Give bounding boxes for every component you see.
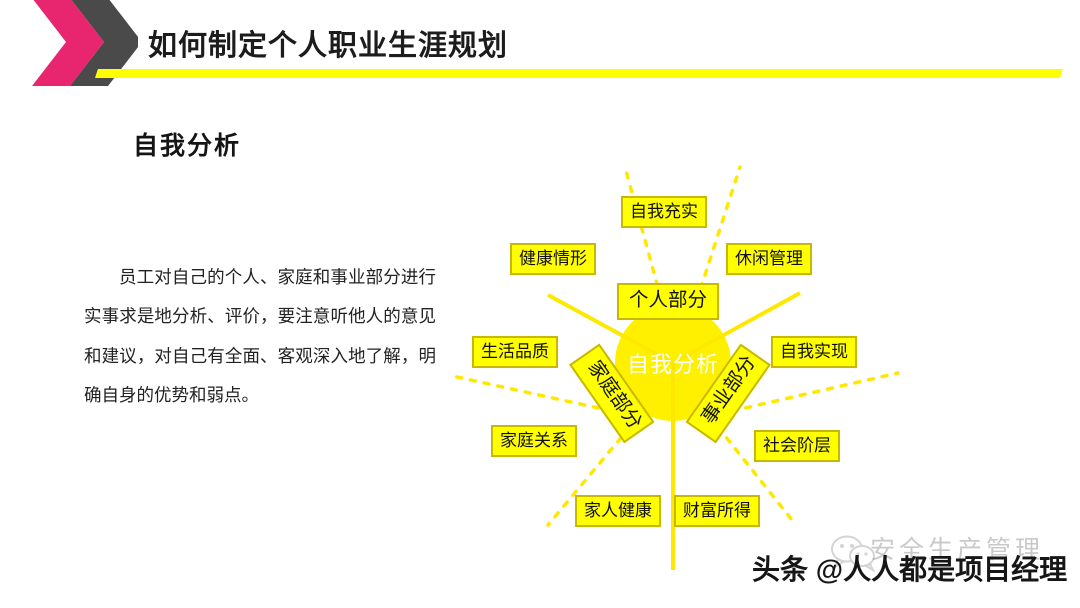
header-underline-rule [95,69,1063,78]
node-life-quality[interactable]: 生活品质 [472,336,558,368]
node-leisure-management[interactable]: 休闲管理 [726,243,812,275]
node-social-class[interactable]: 社会阶层 [754,430,840,462]
self-analysis-mindmap: 自我分析 自我充实 健康情形 休闲管理 个人部分 生活品质 自我实现 家庭部分 … [440,175,910,575]
node-health-status[interactable]: 健康情形 [510,243,596,275]
node-self-fulfilment[interactable]: 自我充实 [621,196,707,228]
watermark-author-text: 头条 @人人都是项目经理 [752,548,1067,588]
node-self-realization[interactable]: 自我实现 [771,336,857,368]
body-paragraph: 员工对自己的个人、家庭和事业部分进行实事求是地分析、评价，要注意听他人的意见和建… [84,258,436,416]
page-header: 如何制定个人职业生涯规划 [0,0,1080,90]
node-family-relations[interactable]: 家庭关系 [491,425,577,457]
watermark: 安全生产管理 头条 @人人都是项目经理 [752,538,1080,600]
node-family-health[interactable]: 家人健康 [575,495,661,527]
page-title: 如何制定个人职业生涯规划 [148,22,508,64]
node-wealth-income[interactable]: 财富所得 [674,495,760,527]
section-title: 自我分析 [133,126,241,162]
node-personal-part[interactable]: 个人部分 [617,283,719,320]
